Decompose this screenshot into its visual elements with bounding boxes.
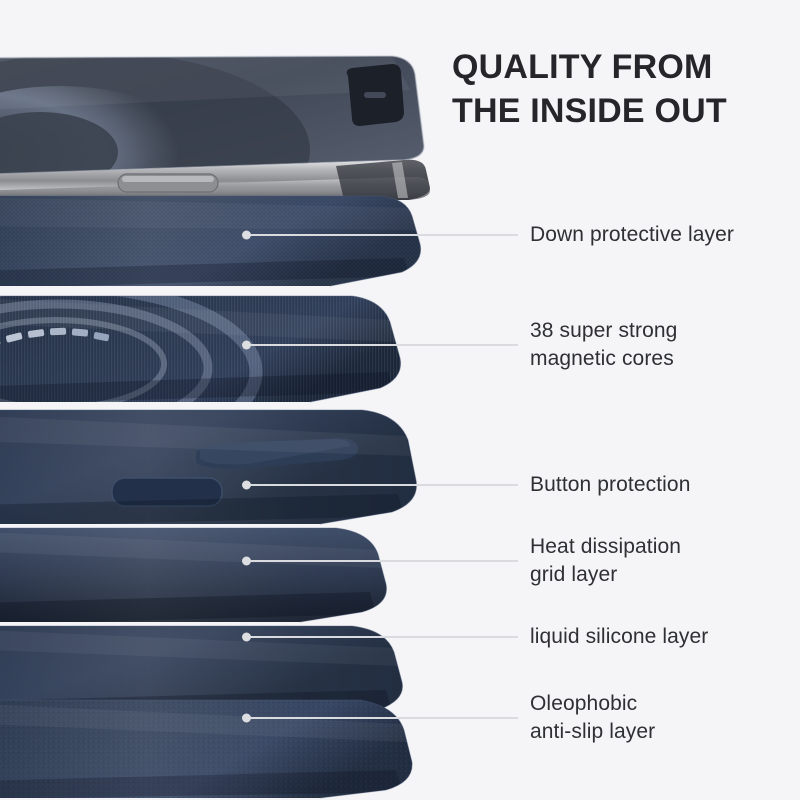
callout-line-1: Heat dissipation: [530, 535, 681, 558]
callout-label-button-protection: Button protection: [530, 471, 690, 499]
infographic-canvas: QUALITY FROM THE INSIDE OUT Down protect…: [0, 0, 800, 800]
leader-dot: [242, 714, 251, 723]
callout-line-1: Oleophobic: [530, 692, 637, 715]
callout-label-down-protective-layer: Down protective layer: [530, 221, 734, 249]
leader-line: [246, 234, 518, 236]
leader-dot: [242, 341, 251, 350]
leader-dot: [242, 231, 251, 240]
leader-line: [246, 560, 518, 562]
leader-dot: [242, 633, 251, 642]
callout-line-1: 38 super strong: [530, 319, 677, 342]
callout-line-2: magnetic cores: [530, 347, 674, 370]
callout-label-magnetic-cores: 38 super strongmagnetic cores: [530, 317, 677, 373]
leader-dot: [242, 557, 251, 566]
callout-line-2: grid layer: [530, 563, 617, 586]
exploded-case-illustration: [0, 0, 460, 800]
leader-line: [246, 344, 518, 346]
layer-heat-dissipation-grid: [0, 522, 460, 628]
callout-label-heat-dissipation-grid-layer: Heat dissipationgrid layer: [530, 533, 681, 589]
callout-label-liquid-silicone-layer: liquid silicone layer: [530, 623, 708, 651]
page-title-line-1: QUALITY FROM: [452, 46, 792, 90]
leader-line: [246, 636, 518, 638]
leader-dot: [242, 481, 251, 490]
layer-button-protection: [0, 404, 460, 532]
layer-oleophobic-anti-slip: [0, 694, 460, 800]
callout-label-oleophobic-anti-slip-layer: Oleophobicanti-slip layer: [530, 690, 655, 746]
layer-down-protective: [0, 190, 460, 296]
page-title: QUALITY FROM THE INSIDE OUT: [452, 46, 792, 133]
page-title-line-2: THE INSIDE OUT: [452, 90, 792, 134]
leader-line: [246, 717, 518, 719]
callout-line-2: anti-slip layer: [530, 720, 655, 743]
leader-line: [246, 484, 518, 486]
